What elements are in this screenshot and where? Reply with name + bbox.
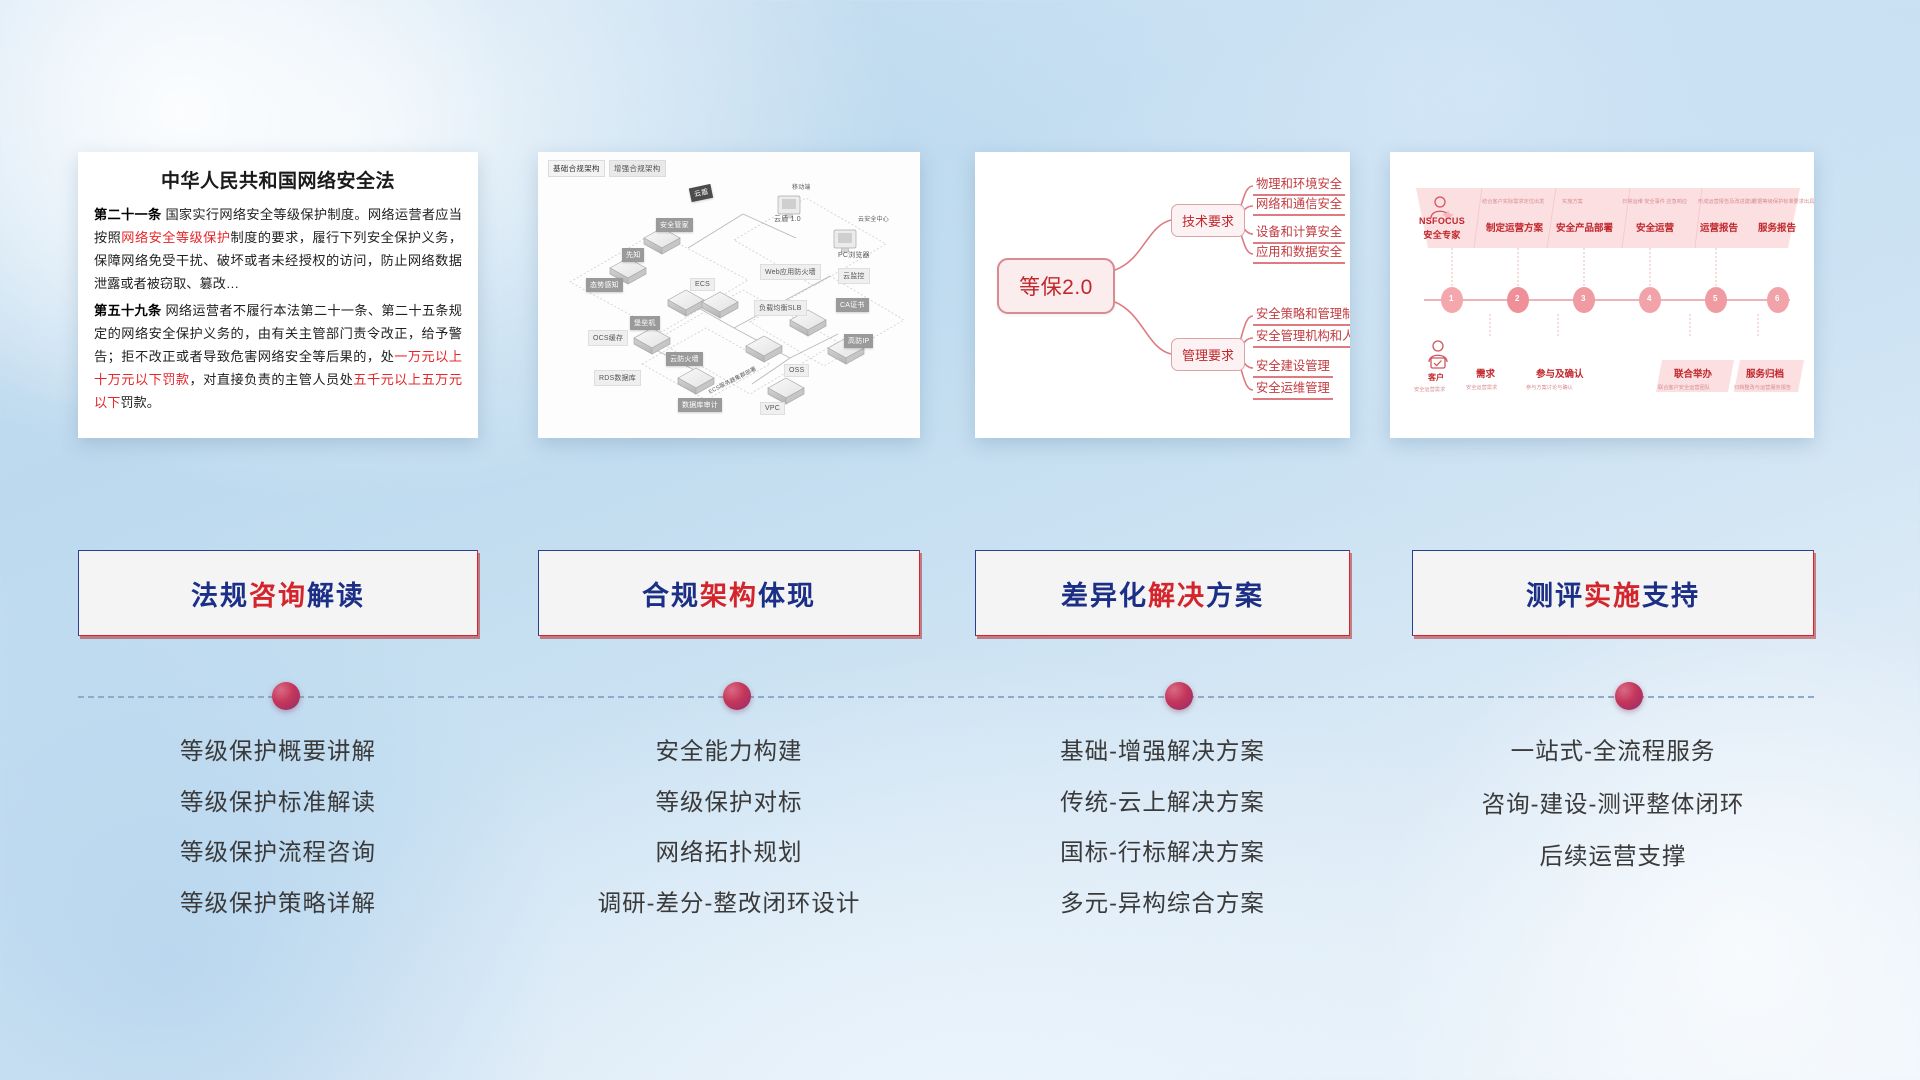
law-article-59: 第五十九条 网络运营者不履行本法第二十一条、第二十五条规定的网络安全保护义务的，… <box>94 300 462 415</box>
arch-node-ecs: ECS <box>690 278 715 291</box>
law-article-59-text-3: 罚款。 <box>120 395 160 410</box>
arch-node-ocs-cache: OCS缓存 <box>588 330 628 346</box>
nsfocus-step-1-title: 制定运营方案 <box>1486 220 1543 234</box>
architecture-tab-enhanced[interactable]: 增强合规架构 <box>609 160 666 177</box>
architecture-diagram: 基础合规架构 增强合规架构 <box>538 152 920 438</box>
mindmap-leaf-app-data: 应用和数据安全 <box>1253 242 1345 264</box>
list-item: 等级保护标准解读 <box>78 791 478 815</box>
arch-node-ca-cert: CA证书 <box>836 298 869 312</box>
detail-column-3: 基础-增强解决方案 传统-云上解决方案 国标-行标解决方案 多元-异构综合方案 <box>975 740 1350 942</box>
list-item: 调研-差分-整改闭环设计 <box>538 892 920 916</box>
nsfocus-svg <box>1390 152 1814 438</box>
nsfocus-step-1-sub: 结合客户实际需求定位出发 <box>1482 198 1544 205</box>
architecture-tab-basic[interactable]: 基础合规架构 <box>548 160 605 177</box>
timeline-dot-3[interactable] <box>1165 682 1193 710</box>
nsfocus-step-2-title: 安全产品部署 <box>1556 220 1613 234</box>
nsfocus-step-3-sub: 日常运维 安全事件 应急响应 <box>1622 198 1687 205</box>
detail-columns: 等级保护概要讲解 等级保护标准解读 等级保护流程咨询 等级保护策略详解 安全能力… <box>0 740 1920 970</box>
law-article-21: 第二十一条 国家实行网络安全等级保护制度。网络运营者应当按照网络安全等级保护制度… <box>94 204 462 296</box>
mindmap-leaf-policy-system: 安全策略和管理制度 <box>1253 304 1350 326</box>
nsfocus-bottom-4-sub: 归档整改与运营服务报告 <box>1734 384 1791 391</box>
list-item: 等级保护对标 <box>538 791 920 815</box>
arch-node-security-butler: 安全管家 <box>656 218 693 232</box>
arch-node-vpc: VPC <box>760 402 785 415</box>
mindmap-leaf-construction-mgmt: 安全建设管理 <box>1253 356 1333 378</box>
nsfocus-bottom-3-sub: 联合客户安全运营团队 <box>1658 384 1710 391</box>
nsfocus-step-4-title: 运营报告 <box>1700 220 1738 234</box>
nsfocus-step-2-sub: 实施方案 <box>1562 198 1583 205</box>
nsfocus-bottom-4-title: 服务归档 <box>1746 366 1784 380</box>
card-cybersecurity-law[interactable]: 中华人民共和国网络安全法 第二十一条 国家实行网络安全等级保护制度。网络运营者应… <box>78 152 478 438</box>
law-article-59-label: 第五十九条 <box>94 303 161 318</box>
heading-row: 法规咨询解读 合规架构体现 差异化解决方案 测评实施支持 <box>0 550 1920 640</box>
mindmap-branch-management: 管理要求 <box>1171 338 1245 371</box>
nsfocus-bottom-2-sub: 参与方案讨论与确认 <box>1526 384 1573 391</box>
law-document: 中华人民共和国网络安全法 第二十一条 国家实行网络安全等级保护制度。网络运营者应… <box>78 152 478 425</box>
arch-node-pc-browser: PC浏览器 <box>838 250 870 260</box>
list-item: 后续运营支撑 <box>1412 845 1814 869</box>
nsfocus-node-4: 4 <box>1647 294 1651 303</box>
law-article-21-label: 第二十一条 <box>94 207 161 222</box>
mindmap-leaf-org-personnel: 安全管理机构和人员 <box>1253 326 1350 348</box>
nsfocus-bottom-1-title: 需求 <box>1476 366 1495 380</box>
timeline-dot-1[interactable] <box>272 682 300 710</box>
timeline-dot-4[interactable] <box>1615 682 1643 710</box>
mindmap-leaf-device-compute: 设备和计算安全 <box>1253 222 1345 244</box>
card-nsfocus-service-flow[interactable]: NSFOCUS 安全专家 结合客户实际需求定位出发 制定运营方案 实施方案 安全… <box>1390 152 1814 438</box>
architecture-tabs[interactable]: 基础合规架构 增强合规架构 <box>548 160 666 177</box>
timeline-track <box>78 696 1814 698</box>
detail-column-4: 一站式-全流程服务 咨询-建设-测评整体闭环 后续运营支撑 <box>1412 740 1814 898</box>
arch-node-cloud-shield-10: 云盾 1.0 <box>774 214 801 224</box>
nsfocus-timeline-diagram: NSFOCUS 安全专家 结合客户实际需求定位出发 制定运营方案 实施方案 安全… <box>1390 152 1814 438</box>
nsfocus-step-5-sub: 根据等级保护标准要求出具整改服务报告 <box>1752 198 1814 205</box>
nsfocus-brand-name: NSFOCUS <box>1414 216 1470 226</box>
heading-box-assessment-support[interactable]: 测评实施支持 <box>1412 550 1814 636</box>
slide-canvas: 中华人民共和国网络安全法 第二十一条 国家实行网络安全等级保护制度。网络运营者应… <box>0 0 1920 1080</box>
heading-label-4: 测评实施支持 <box>1526 574 1700 613</box>
detail-column-1: 等级保护概要讲解 等级保护标准解读 等级保护流程咨询 等级保护策略详解 <box>78 740 478 942</box>
arch-node-rds: RDS数据库 <box>594 370 641 386</box>
list-item: 等级保护策略详解 <box>78 892 478 916</box>
list-item: 咨询-建设-测评整体闭环 <box>1412 793 1814 817</box>
nsfocus-bottom-1-sub: 安全运营需求 <box>1466 384 1497 391</box>
law-article-59-text-2: ，对直接负责的主管人员处 <box>190 372 354 387</box>
heading-label-2: 合规架构体现 <box>642 574 816 613</box>
heading-box-differentiated-solution[interactable]: 差异化解决方案 <box>975 550 1350 636</box>
heading-label-3: 差异化解决方案 <box>1061 574 1264 613</box>
person-check-icon <box>1429 341 1447 368</box>
arch-node-cloud-monitor: 云监控 <box>838 268 870 284</box>
law-article-21-highlight: 网络安全等级保护 <box>121 230 230 245</box>
nsfocus-bottom-2-title: 参与及确认 <box>1536 366 1584 380</box>
nsfocus-step-3-title: 安全运营 <box>1636 220 1674 234</box>
arch-node-db-audit: 数据库审计 <box>678 398 722 412</box>
nsfocus-step-4-sub: 形成运营报告及改进建议 <box>1698 198 1755 205</box>
timeline-dashed-line <box>78 696 1814 698</box>
heading-box-compliance-architecture[interactable]: 合规架构体现 <box>538 550 920 636</box>
nsfocus-customer-sub: 安全运营需求 <box>1414 386 1445 393</box>
mindmap-root-node: 等保2.0 <box>997 258 1115 314</box>
nsfocus-bottom-3-title: 联合举办 <box>1674 366 1712 380</box>
arch-node-anti-ddos: 高防IP <box>844 334 873 348</box>
heading-box-regulation-consulting[interactable]: 法规咨询解读 <box>78 550 478 636</box>
timeline-dot-2[interactable] <box>723 682 751 710</box>
arch-node-bastion-host: 堡垒机 <box>630 316 660 330</box>
detail-column-2: 安全能力构建 等级保护对标 网络拓扑规划 调研-差分-整改闭环设计 <box>538 740 920 942</box>
arch-node-cloud-security-center: 云安全中心 <box>858 214 889 223</box>
mindmap-leaf-ops-mgmt: 安全运维管理 <box>1253 378 1333 400</box>
arch-node-waf: Web应用防火墙 <box>760 264 821 280</box>
arch-node-cloud-firewall: 云防火墙 <box>666 352 703 366</box>
nsfocus-node-3: 3 <box>1581 294 1585 303</box>
mindmap: 等保2.0 技术要求 物理和环境安全 网络和通信安全 设备和计算安全 应用和数据… <box>975 152 1350 438</box>
nsfocus-customer-label: 客户 <box>1428 372 1444 383</box>
law-title: 中华人民共和国网络安全法 <box>94 166 462 193</box>
nsfocus-node-6: 6 <box>1775 294 1779 303</box>
list-item: 一站式-全流程服务 <box>1412 740 1814 764</box>
card-mindmap-dengbao[interactable]: 等保2.0 技术要求 物理和环境安全 网络和通信安全 设备和计算安全 应用和数据… <box>975 152 1350 438</box>
list-item: 基础-增强解决方案 <box>975 740 1350 764</box>
arch-node-oss: OSS <box>784 364 809 377</box>
nsfocus-node-1: 1 <box>1449 294 1453 303</box>
mindmap-leaf-physical-env: 物理和环境安全 <box>1253 174 1345 196</box>
arch-node-situation-awareness: 态势感知 <box>586 278 623 292</box>
arch-node-mobile: 移动端 <box>792 182 811 191</box>
list-item: 等级保护概要讲解 <box>78 740 478 764</box>
mindmap-branch-technical: 技术要求 <box>1171 204 1245 237</box>
arch-node-slb: 负载均衡SLB <box>754 300 807 316</box>
mindmap-leaf-network-comm: 网络和通信安全 <box>1253 194 1345 216</box>
nsfocus-node-2: 2 <box>1515 294 1519 303</box>
nsfocus-node-5: 5 <box>1713 294 1717 303</box>
list-item: 国标-行标解决方案 <box>975 841 1350 865</box>
card-compliance-architecture[interactable]: 基础合规架构 增强合规架构 <box>538 152 920 438</box>
heading-label-1: 法规咨询解读 <box>191 574 365 613</box>
list-item: 多元-异构综合方案 <box>975 892 1350 916</box>
card-row: 中华人民共和国网络安全法 第二十一条 国家实行网络安全等级保护制度。网络运营者应… <box>0 152 1920 442</box>
list-item: 传统-云上解决方案 <box>975 791 1350 815</box>
list-item: 安全能力构建 <box>538 740 920 764</box>
list-item: 网络拓扑规划 <box>538 841 920 865</box>
architecture-svg <box>538 152 920 438</box>
list-item: 等级保护流程咨询 <box>78 841 478 865</box>
nsfocus-step-5-title: 服务报告 <box>1758 220 1796 234</box>
arch-node-xianzhi: 先知 <box>622 248 644 262</box>
nsfocus-brand-subtitle: 安全专家 <box>1414 228 1470 241</box>
